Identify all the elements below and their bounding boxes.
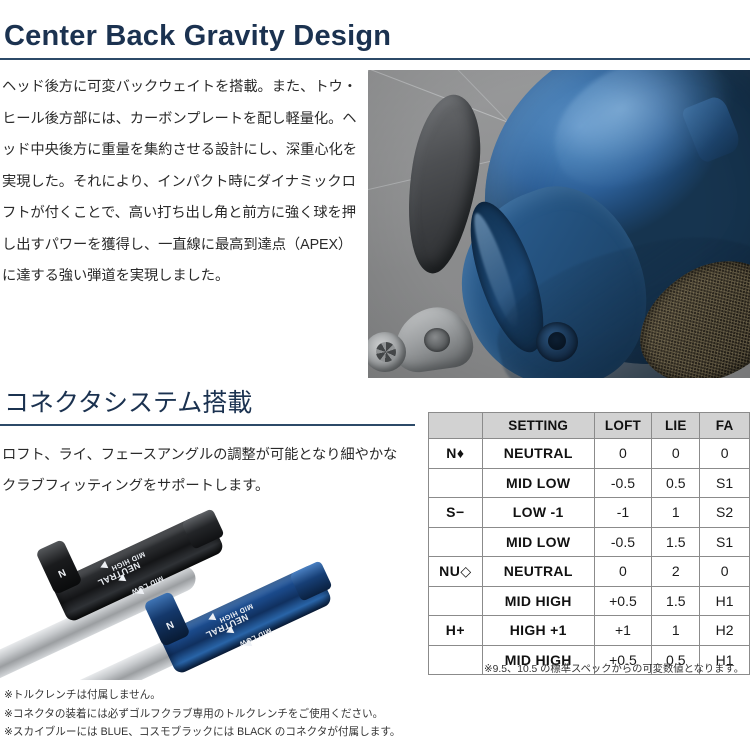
section1-description: ヘッド後方に可変バックウェイトを搭載。また、トウ・ヒール後方部には、カーボンプレ… — [2, 72, 364, 293]
cell-setting: HIGH +1 — [482, 616, 594, 646]
table-row: MID HIGH +0.5 1.5 H1 — [429, 586, 750, 616]
cell-fa: S1 — [700, 468, 750, 498]
table-row: S− LOW -1 -1 1 S2 — [429, 498, 750, 528]
cell-lie: 1 — [652, 498, 700, 528]
connector-sleeves-image: MID HIGH NEUTRAL MID LOW MID HIGH NEUTRA… — [0, 505, 420, 680]
cell-setting: MID LOW — [482, 527, 594, 557]
cell-loft: +0.5 — [594, 586, 652, 616]
product-detail-page: Center Back Gravity Design ヘッド後方に可変バックウェ… — [0, 0, 750, 750]
cell-code: N♦ — [429, 439, 483, 469]
footnotes-block: ※トルクレンチは付属しません。 ※コネクタの装着には必ずゴルフクラブ専用のトルク… — [4, 686, 400, 742]
cell-setting: NEUTRAL — [482, 557, 594, 587]
cell-setting: MID HIGH — [482, 586, 594, 616]
table-header-row: SETTING LOFT LIE FA — [429, 413, 750, 439]
cell-fa: S1 — [700, 527, 750, 557]
section2-description: ロフト、ライ、フェースアングルの調整が可能となり細やかなクラブフィッティングをサ… — [2, 440, 402, 502]
footnote-line: ※スカイブルーには BLUE、コスモブラックには BLACK のコネクタが付属し… — [4, 723, 400, 742]
table-row: NU◇ NEUTRAL 0 2 0 — [429, 557, 750, 587]
cell-loft: 0 — [594, 439, 652, 469]
table-row: MID LOW -0.5 0.5 S1 — [429, 468, 750, 498]
weight-bracket-hole — [424, 328, 450, 352]
screw-torx-head-icon — [376, 342, 396, 362]
table-row: N♦ NEUTRAL 0 0 0 — [429, 439, 750, 469]
cell-fa: 0 — [700, 439, 750, 469]
cell-lie: 2 — [652, 557, 700, 587]
cell-fa: H1 — [700, 586, 750, 616]
driver-head-image — [368, 70, 750, 378]
footnote-line: ※トルクレンチは付属しません。 — [4, 686, 400, 705]
cell-code — [429, 468, 483, 498]
cell-fa: S2 — [700, 498, 750, 528]
table-header-lie: LIE — [652, 413, 700, 439]
cell-setting: LOW -1 — [482, 498, 594, 528]
cell-lie: 1 — [652, 616, 700, 646]
cell-code — [429, 586, 483, 616]
cell-loft: +1 — [594, 616, 652, 646]
cell-loft: -0.5 — [594, 527, 652, 557]
cell-setting: MID LOW — [482, 468, 594, 498]
cell-code — [429, 527, 483, 557]
cell-code — [429, 645, 483, 675]
cell-lie: 0.5 — [652, 468, 700, 498]
setting-spec-table: SETTING LOFT LIE FA N♦ NEUTRAL 0 0 0 MID… — [428, 412, 750, 675]
cell-code: S− — [429, 498, 483, 528]
cell-code: NU◇ — [429, 557, 483, 587]
cell-lie: 1.5 — [652, 527, 700, 557]
cell-code: H+ — [429, 616, 483, 646]
table-header-fa: FA — [700, 413, 750, 439]
cell-loft: -1 — [594, 498, 652, 528]
table-footnote: ※9.5、10.5 の標準スペックからの可変数値となります。 — [484, 660, 744, 675]
cell-fa: 0 — [700, 557, 750, 587]
table-row: MID LOW -0.5 1.5 S1 — [429, 527, 750, 557]
cell-loft: -0.5 — [594, 468, 652, 498]
table-header-setting: SETTING — [482, 413, 594, 439]
table-row: H+ HIGH +1 +1 1 H2 — [429, 616, 750, 646]
table-header-loft: LOFT — [594, 413, 652, 439]
cell-lie: 0 — [652, 439, 700, 469]
cell-setting: NEUTRAL — [482, 439, 594, 469]
cell-fa: H2 — [700, 616, 750, 646]
title-divider — [0, 58, 750, 60]
table-header-code — [429, 413, 483, 439]
page-title: Center Back Gravity Design — [4, 18, 391, 54]
section2-divider — [0, 424, 415, 426]
cell-lie: 1.5 — [652, 586, 700, 616]
footnote-line: ※コネクタの装着には必ずゴルフクラブ専用のトルクレンチをご使用ください。 — [4, 705, 400, 724]
cell-loft: 0 — [594, 557, 652, 587]
weight-port-hole — [548, 332, 566, 350]
section2-title: コネクタシステム搭載 — [4, 387, 252, 419]
